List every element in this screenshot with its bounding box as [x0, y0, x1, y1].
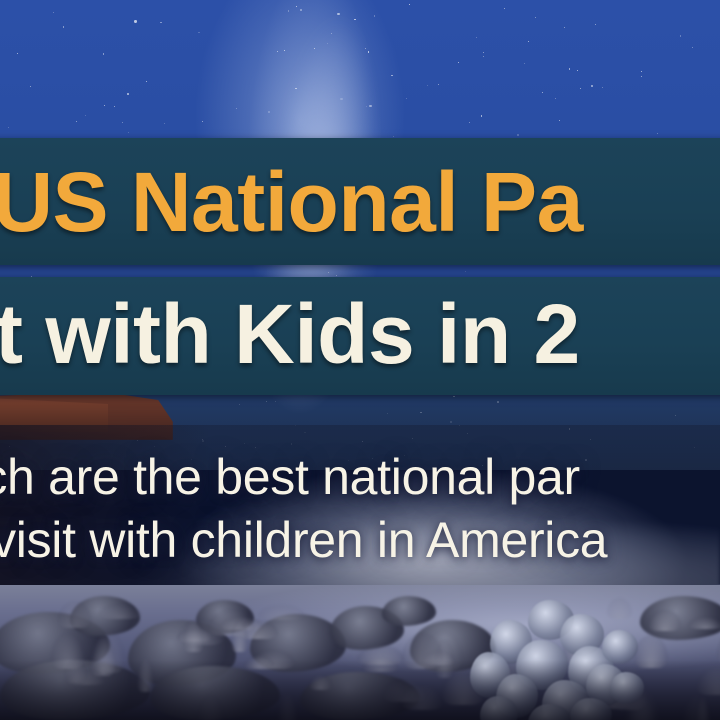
grass-tuft [258, 605, 305, 620]
subtitle-line-2: o visit with children in America [0, 515, 607, 565]
grass-tuft [98, 604, 142, 619]
foreground-shadow [0, 660, 720, 720]
title-line-1: t US National Pa [0, 160, 583, 244]
cactus-segment [602, 630, 638, 664]
subtitle-line-1: hich are the best national par [0, 452, 580, 502]
title-line-1-accent-segment: US National Pa [0, 155, 583, 249]
title-line-2: sit with Kids in 2 [0, 292, 580, 376]
grass-tuft [688, 617, 720, 629]
graphic-canvas: t US National Pa sit with Kids in 2 hich… [0, 0, 720, 720]
